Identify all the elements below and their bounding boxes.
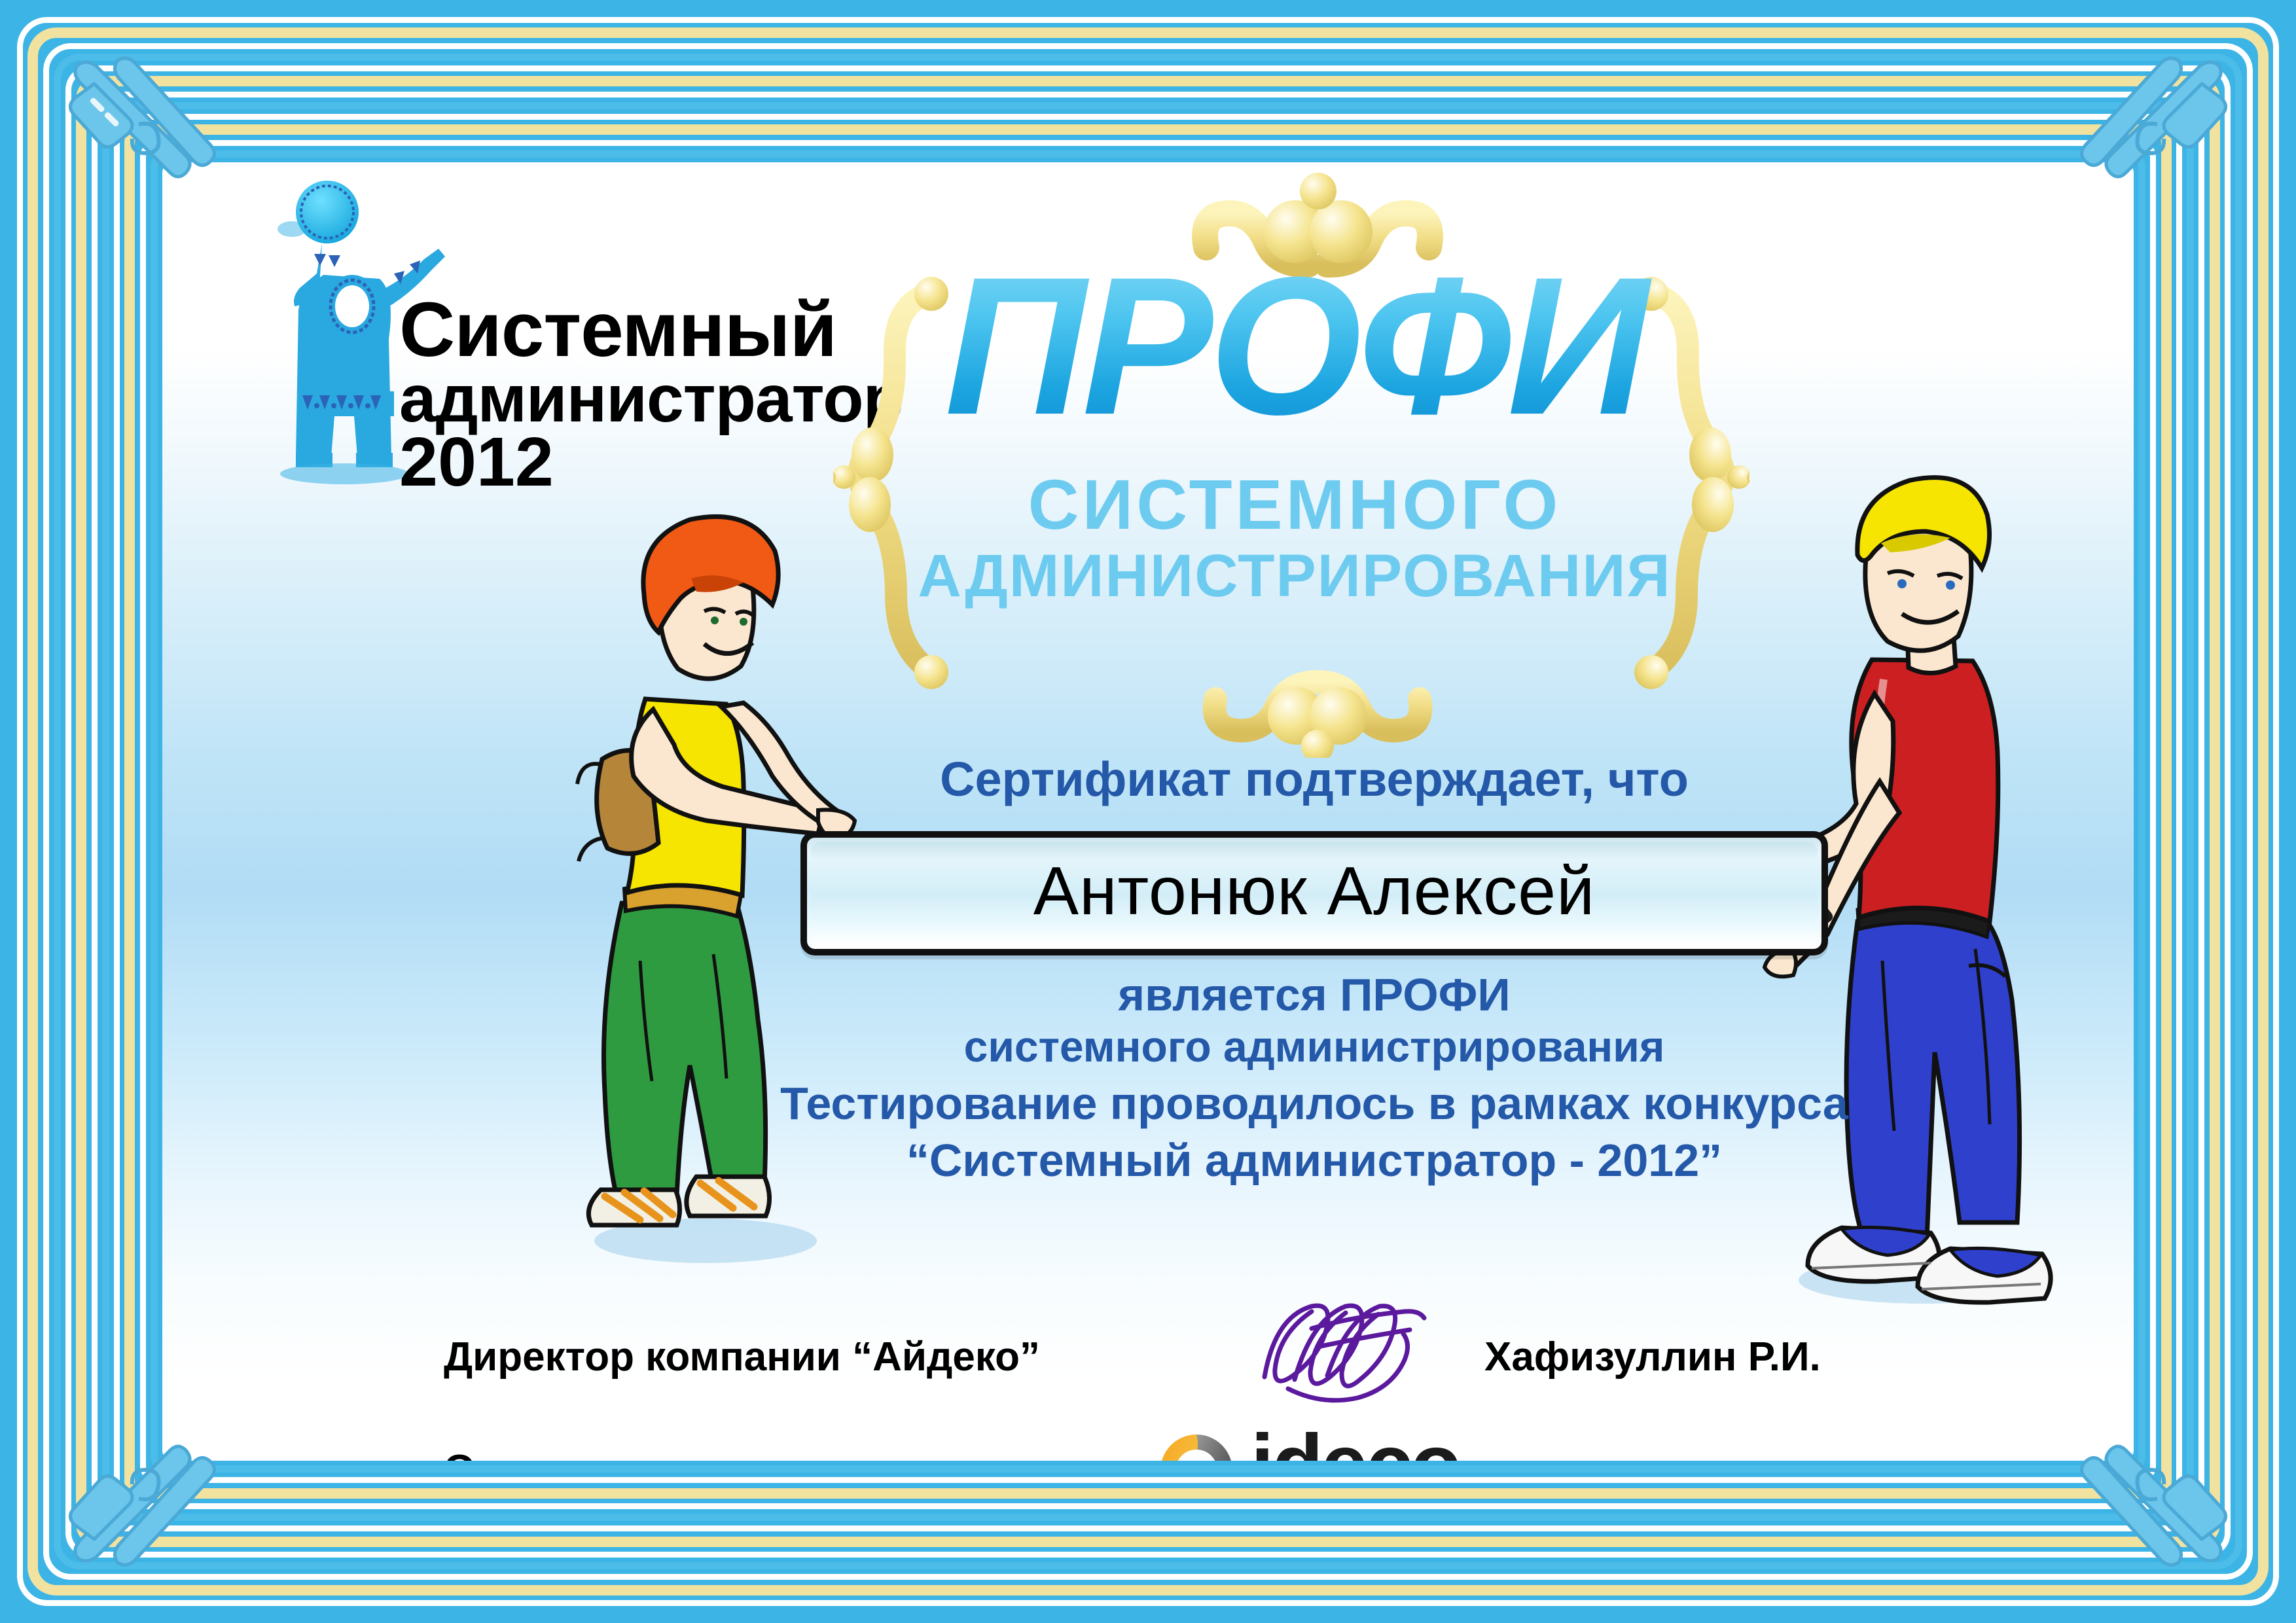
ideco-ring-icon bbox=[1154, 1428, 1239, 1461]
organizer-label: Организатор конкурса: bbox=[444, 1446, 906, 1461]
sysadmin-logo-line2: администратор bbox=[399, 368, 897, 430]
body-line-3: Тестирование проводилось в рамках конкур… bbox=[751, 1077, 1877, 1130]
signature-row: Директор компании “Айдеко” Хафизуллин Р.… bbox=[444, 1315, 1596, 1414]
body-line-4: “Системный администратор - 2012” bbox=[751, 1134, 1877, 1187]
sysadmin-logo-line1: Системный bbox=[399, 294, 897, 366]
sysadmin-logo-line3: 2012 bbox=[399, 431, 897, 495]
certificate-body-text: является ПРОФИ системного администрирова… bbox=[751, 969, 1877, 1187]
recipient-nameplate: Антонюк Алексей bbox=[800, 831, 1828, 955]
ideco-logo: ideco bbox=[1154, 1419, 1494, 1461]
recipient-name: Антонюк Алексей bbox=[807, 838, 1821, 949]
signature-title: Директор компании “Айдеко” bbox=[444, 1334, 1040, 1380]
organizer-row: Организатор конкурса: ideco bbox=[444, 1425, 1295, 1461]
body-line-1: является ПРОФИ bbox=[751, 969, 1877, 1022]
confirm-line: Сертификат подтверждает, что bbox=[784, 751, 1844, 807]
certificate-body: Системный администратор 2012 bbox=[162, 162, 2134, 1461]
profi-title-block: ПРОФИ СИСТЕМНОГО АДМИНИСТРИРОВАНИЯ bbox=[830, 175, 1759, 751]
ideco-wordmark: ideco bbox=[1251, 1423, 1460, 1461]
signature-name: Хафизуллин Р.И. bbox=[1484, 1334, 1821, 1380]
profi-subtitle-1: СИСТЕМНОГО bbox=[830, 463, 1759, 545]
body-line-2: системного администрирования bbox=[751, 1022, 1877, 1072]
profi-subtitle-2: АДМИНИСТРИРОВАНИЯ bbox=[830, 542, 1759, 611]
profi-title: ПРОФИ bbox=[830, 247, 1759, 457]
handwritten-signature-icon bbox=[1249, 1297, 1439, 1408]
certificate-page: Системный администратор 2012 bbox=[0, 0, 2296, 1623]
sysadmin-logo-text: Системный администратор 2012 bbox=[399, 294, 897, 495]
sysadmin-event-logo: Системный администратор 2012 bbox=[254, 175, 915, 535]
